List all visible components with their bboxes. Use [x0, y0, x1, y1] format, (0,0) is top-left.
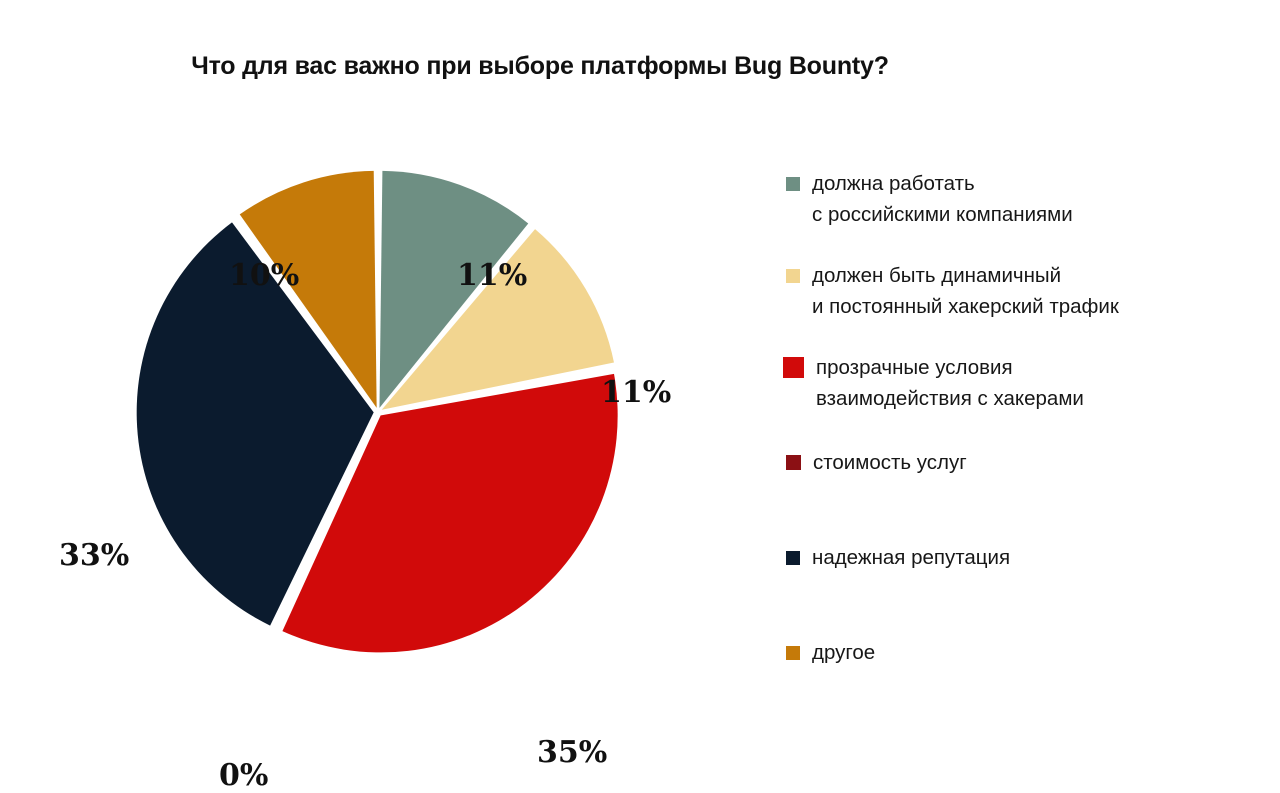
- legend-item-transparent-terms[interactable]: прозрачные условия взаимодействия с хаке…: [783, 352, 1084, 414]
- legend-item-reputation[interactable]: надежная репутация: [786, 542, 1010, 573]
- legend-item-label: надежная репутация: [812, 542, 1010, 573]
- pie-slice-group: [137, 171, 618, 653]
- pie-chart-slide: Что для вас важно при выборе платформы B…: [0, 0, 1280, 720]
- legend-swatch-icon: [786, 177, 800, 191]
- legend-item-russian-companies[interactable]: должна работать с российскими компаниями: [786, 168, 1073, 230]
- legend-swatch-icon: [786, 646, 800, 660]
- legend-item-service-cost[interactable]: стоимость услуг: [786, 447, 967, 478]
- legend-item-label: должен быть динамичный и постоянный хаке…: [812, 260, 1119, 322]
- data-label-russian-companies: 11%: [457, 258, 527, 293]
- legend-swatch-icon: [786, 551, 800, 565]
- legend-item-label: прозрачные условия взаимодействия с хаке…: [816, 352, 1084, 414]
- data-label-service-cost: 0%: [219, 758, 268, 793]
- legend-swatch-icon: [783, 357, 804, 378]
- pie-svg: [0, 120, 760, 700]
- data-label-other: 10%: [229, 258, 299, 293]
- legend-item-label: стоимость услуг: [813, 447, 967, 478]
- page-title: Что для вас важно при выборе платформы B…: [0, 52, 1080, 81]
- pie-chart: 10% 11% 11% 35% 0% 33%: [0, 120, 760, 700]
- legend-item-other[interactable]: другое: [786, 637, 875, 668]
- data-label-hacker-traffic: 11%: [601, 375, 671, 410]
- legend-item-hacker-traffic[interactable]: должен быть динамичный и постоянный хаке…: [786, 260, 1119, 322]
- legend-item-label: должна работать с российскими компаниями: [812, 168, 1073, 230]
- data-label-transparent-terms: 35%: [537, 735, 607, 770]
- legend-swatch-icon: [786, 455, 801, 470]
- legend-swatch-icon: [786, 269, 800, 283]
- legend-item-label: другое: [812, 637, 875, 668]
- data-label-reputation: 33%: [59, 538, 129, 573]
